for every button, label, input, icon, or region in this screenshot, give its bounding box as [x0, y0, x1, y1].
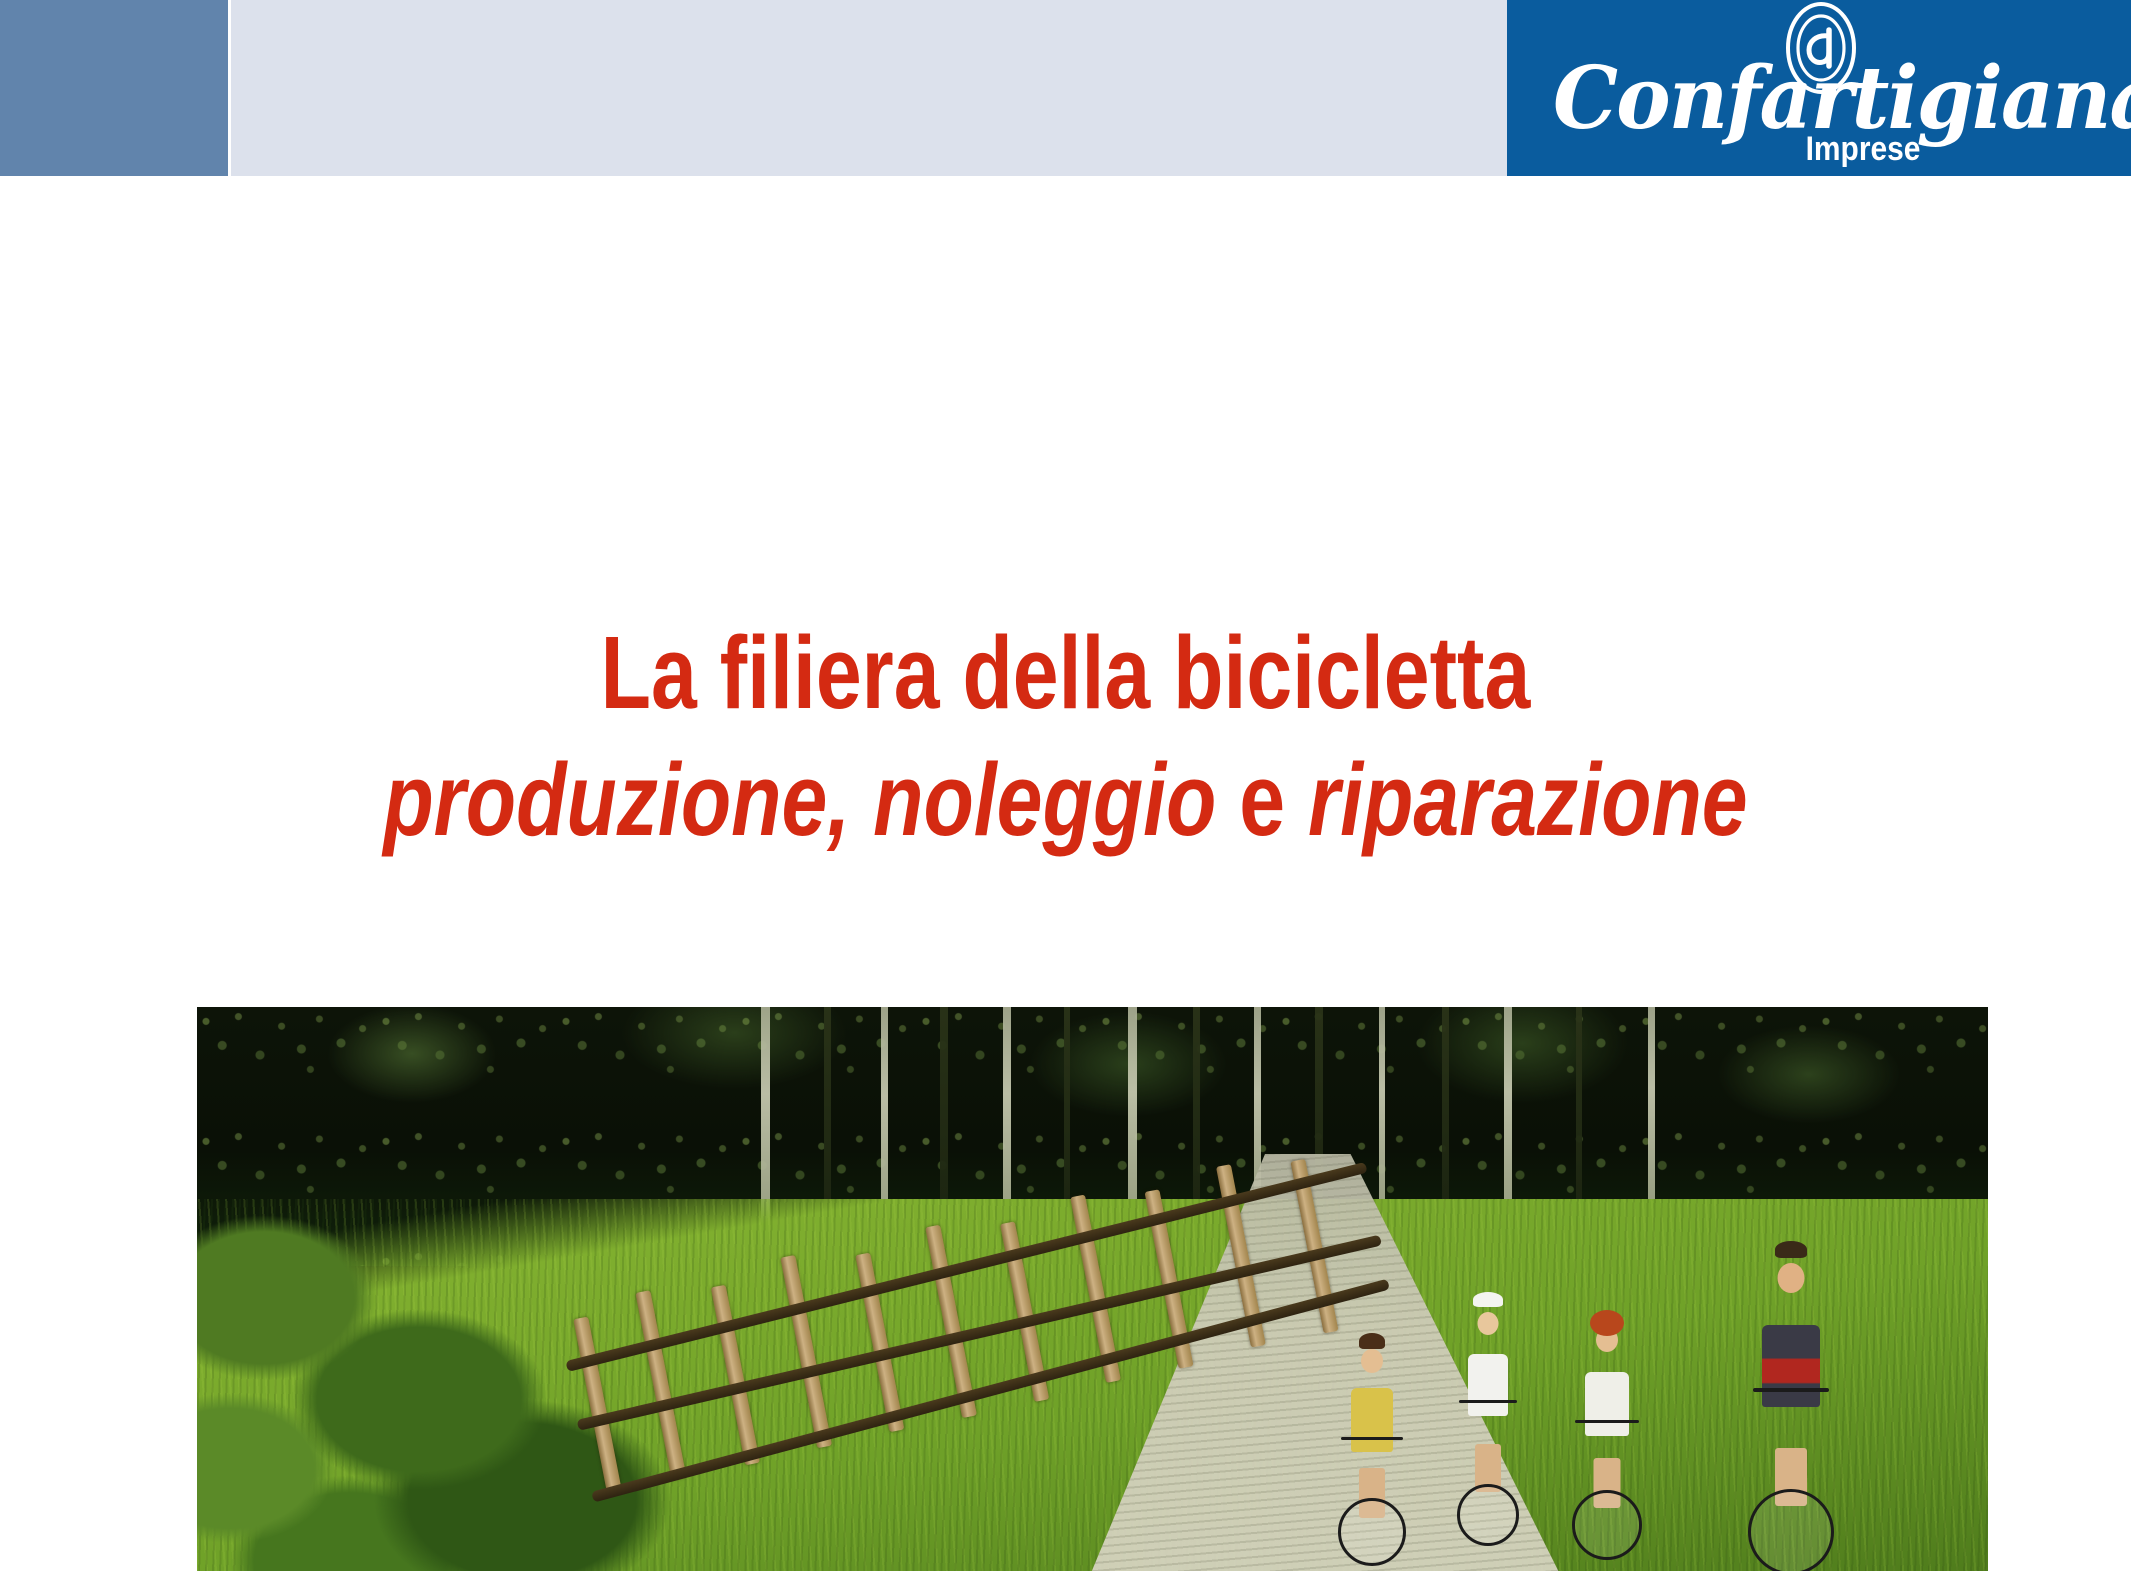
confartigianato-subtitle: Imprese	[1573, 132, 2066, 166]
header-accent-band	[0, 0, 228, 176]
page-title-line-1: La filiera della bicicletta	[213, 620, 1918, 725]
fence-post	[636, 1290, 687, 1479]
page-title: La filiera della bicicletta produzione, …	[0, 620, 2131, 852]
rider-red-jersey	[1720, 1178, 1862, 1560]
rider-yellow-top	[1320, 1259, 1423, 1559]
rider-hair	[1590, 1310, 1624, 1336]
rider-torso	[1585, 1372, 1629, 1436]
rider-white-cap	[1436, 1219, 1539, 1560]
page-title-line-2-conjunction: e	[1239, 742, 1285, 857]
bicycle-wheel	[1457, 1484, 1519, 1546]
fence-post	[925, 1225, 977, 1418]
handlebar	[1459, 1400, 1517, 1403]
brand-logo-panel: Confartigianato Imprese	[1507, 0, 2131, 176]
rider-hair	[1359, 1333, 1385, 1349]
cover-photo	[197, 1007, 1988, 1571]
header-light-band	[228, 0, 1507, 176]
rider-head	[1777, 1263, 1804, 1293]
bicycle-wheel	[1748, 1489, 1834, 1571]
bicycle-wheel	[1572, 1490, 1642, 1560]
handlebar	[1575, 1420, 1639, 1423]
handlebar	[1753, 1388, 1829, 1392]
rider-torso	[1351, 1388, 1393, 1452]
fence-post	[710, 1285, 759, 1465]
page-title-line-2-part-a: produzione, noleggio	[383, 742, 1216, 857]
page-title-line-2: produzione, noleggio e riparazione	[213, 747, 1918, 852]
rider-head	[1477, 1312, 1498, 1335]
rider-red-hair	[1552, 1235, 1662, 1560]
page-title-line-2-part-c: riparazione	[1308, 742, 1748, 857]
rider-cap	[1473, 1292, 1503, 1307]
handlebar	[1341, 1437, 1403, 1440]
cyclists-group	[1307, 1154, 1952, 1560]
rider-head	[1361, 1349, 1383, 1373]
confartigianato-logo: Confartigianato Imprese	[1539, 4, 2099, 172]
fence-post	[780, 1255, 832, 1448]
photo-scene	[197, 1007, 1988, 1571]
rider-torso	[1468, 1354, 1508, 1416]
bicycle-wheel	[1338, 1498, 1406, 1566]
rider-torso	[1762, 1325, 1820, 1407]
slide-header: Confartigianato Imprese	[0, 0, 2131, 176]
rider-hair	[1775, 1241, 1807, 1258]
